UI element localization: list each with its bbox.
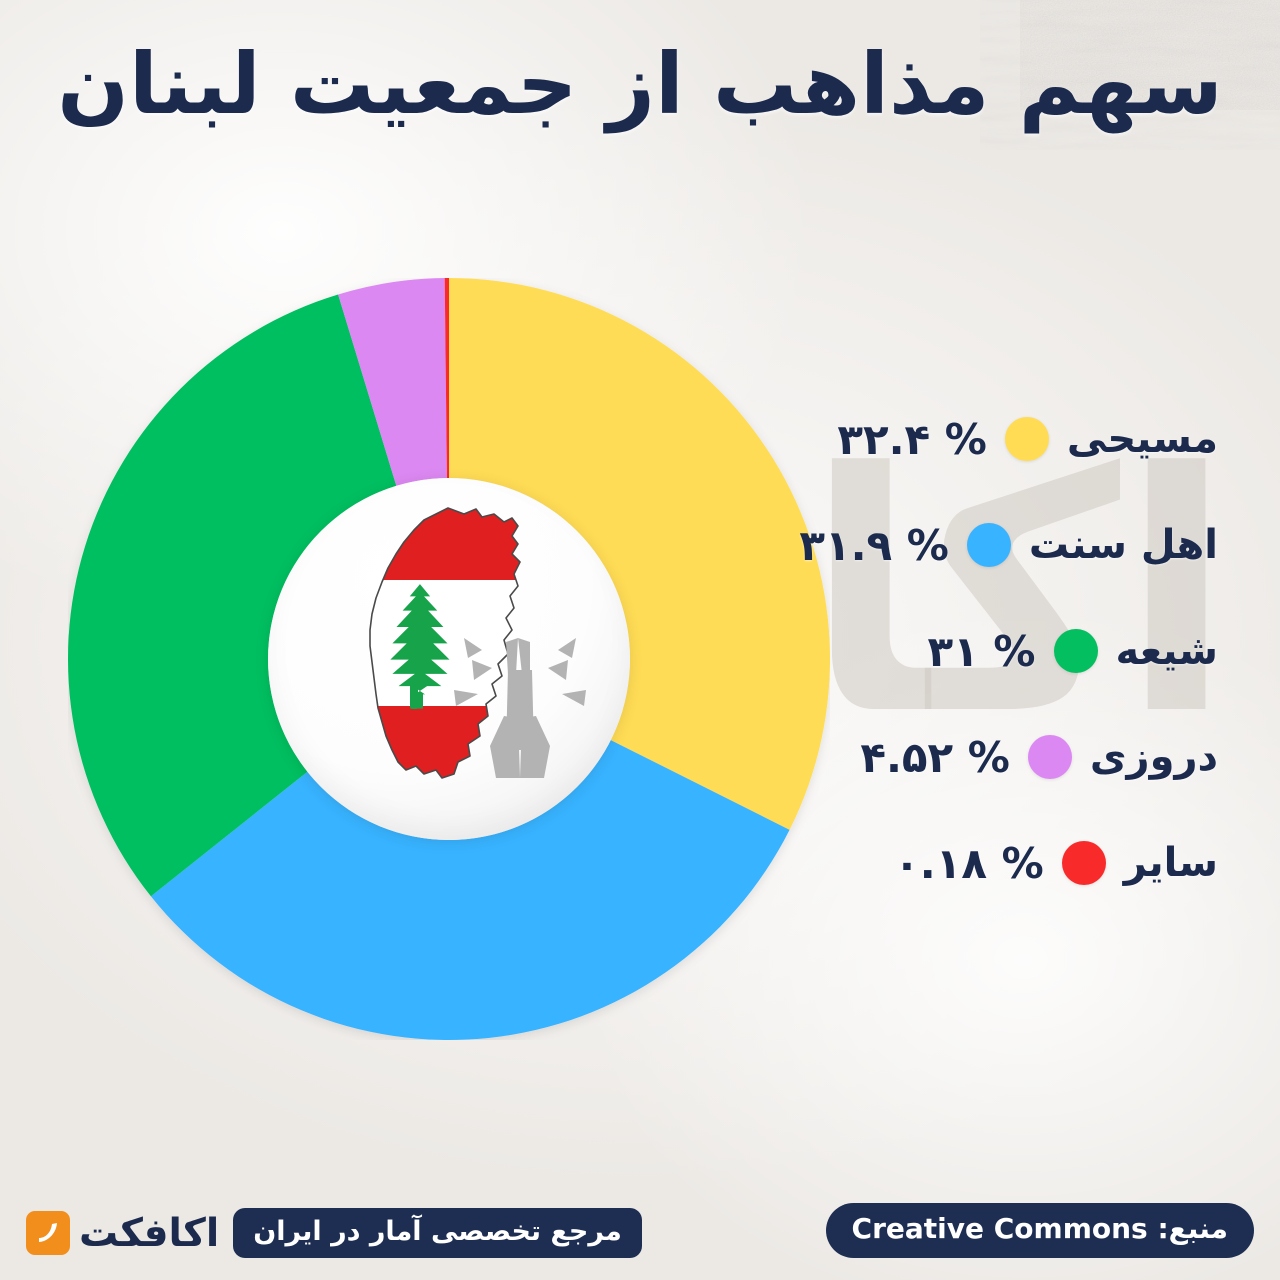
legend-item-0[interactable]: مسیحی۳۲.۴ %	[858, 386, 1218, 492]
legend-item-4[interactable]: سایر۰.۱۸ %	[858, 810, 1218, 916]
source-name: Creative Commons	[852, 1215, 1148, 1243]
legend-color-swatch	[1054, 629, 1098, 673]
legend-item-3[interactable]: دروزی۴.۵۲ %	[858, 704, 1218, 810]
legend-label: شیعه	[1116, 628, 1219, 674]
footer-source: منبع: Creative Commons	[826, 1203, 1254, 1258]
page-title: سهم مذاهب از جمعیت لبنان	[0, 36, 1280, 133]
tagline-badge: مرجع تخصصی آمار در ایران	[233, 1208, 642, 1258]
legend-color-swatch	[1062, 841, 1106, 885]
donut-chart	[68, 278, 830, 1040]
brand-name: اکافکت	[79, 1211, 219, 1256]
legend-label: اهل سنت	[1029, 522, 1218, 568]
brand-mark-icon	[26, 1211, 70, 1255]
legend-color-swatch	[967, 523, 1011, 567]
legend-value: ۰.۱۸ %	[894, 839, 1044, 888]
legend-item-2[interactable]: شیعه۳۱ %	[858, 598, 1218, 704]
legend-value: ۴.۵۲ %	[860, 733, 1010, 782]
legend-color-swatch	[1005, 417, 1049, 461]
footer-branding: اکافکت مرجع تخصصی آمار در ایران	[26, 1208, 642, 1258]
legend-label: سایر	[1124, 840, 1218, 886]
brand-logo[interactable]: اکافکت	[26, 1211, 219, 1256]
legend-item-1[interactable]: اهل سنت۳۱.۹ %	[858, 492, 1218, 598]
legend-label: دروزی	[1090, 734, 1218, 780]
infographic-canvas: اکافکت سهم مذاهب از جمعیت لبنان	[0, 0, 1280, 1280]
lebanon-flag-map-emblem	[268, 478, 630, 840]
legend-value: ۳۱.۹ %	[799, 521, 949, 570]
center-emblem	[268, 478, 630, 840]
legend-value: ۳۲.۴ %	[837, 415, 987, 464]
chart-legend: مسیحی۳۲.۴ %اهل سنت۳۱.۹ %شیعه۳۱ %دروزی۴.۵…	[858, 386, 1218, 916]
legend-label: مسیحی	[1067, 416, 1218, 462]
source-prefix: منبع:	[1157, 1212, 1228, 1245]
source-badge: منبع: Creative Commons	[826, 1203, 1254, 1258]
legend-color-swatch	[1028, 735, 1072, 779]
legend-value: ۳۱ %	[928, 627, 1036, 676]
